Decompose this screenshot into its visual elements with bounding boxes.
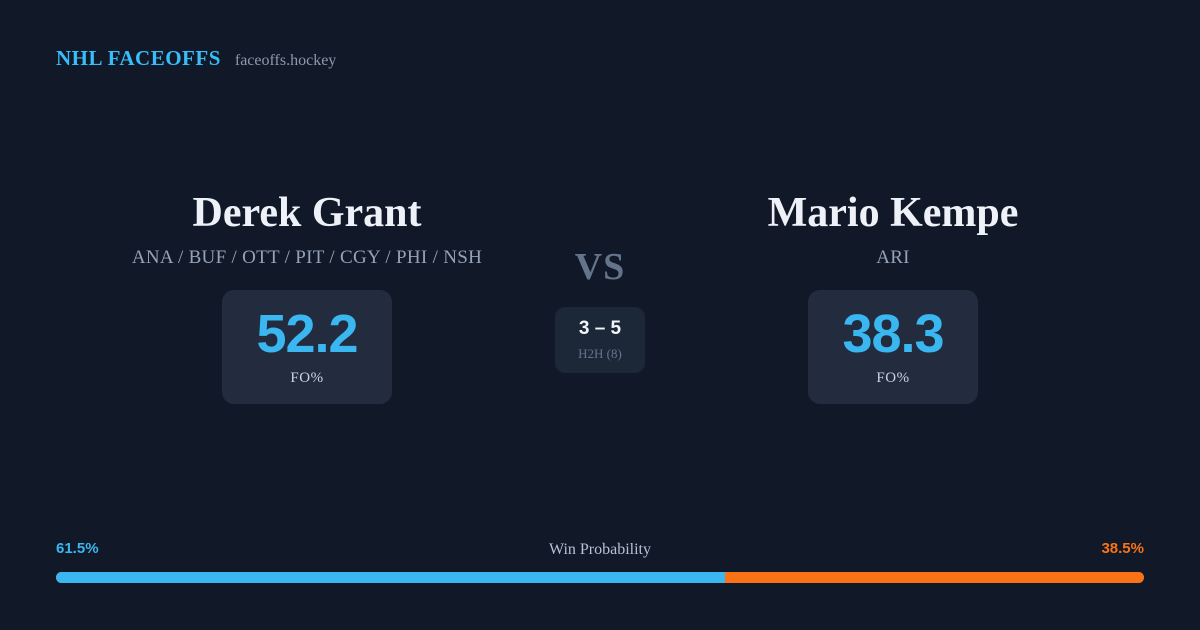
matchup-section: Derek Grant ANA / BUF / OTT / PIT / CGY … [0, 190, 1200, 404]
player-left-teams: ANA / BUF / OTT / PIT / CGY / PHI / NSH [132, 247, 482, 269]
versus-label: VS [575, 248, 626, 286]
player-left-faceoff-pct: 52.2 [256, 307, 357, 361]
head-to-head-box: 3 – 5 H2H (8) [555, 307, 645, 373]
win-probability-bar [56, 572, 1144, 583]
site-header: NHL FACEOFFS faceoffs.hockey [56, 46, 336, 71]
win-probability-bar-right [725, 572, 1144, 583]
player-right-stat-label: FO% [876, 370, 909, 387]
player-left-stat-card: 52.2 FO% [222, 290, 392, 404]
player-left-name: Derek Grant [192, 190, 421, 237]
player-left: Derek Grant ANA / BUF / OTT / PIT / CGY … [74, 190, 540, 404]
player-right-stat-card: 38.3 FO% [808, 290, 978, 404]
player-right-faceoff-pct: 38.3 [842, 307, 943, 361]
versus-column: VS 3 – 5 H2H (8) [540, 190, 660, 373]
win-probability-title: Win Probability [56, 541, 1144, 559]
player-right: Mario Kempe ARI 38.3 FO% [660, 190, 1126, 404]
head-to-head-score: 3 – 5 [579, 319, 621, 338]
win-probability-right-value: 38.5% [1101, 540, 1144, 557]
player-right-name: Mario Kempe [768, 190, 1019, 237]
head-to-head-label: H2H (8) [578, 346, 622, 362]
brand-title: NHL FACEOFFS [56, 46, 221, 71]
player-right-teams: ARI [876, 247, 910, 269]
win-probability-bar-left [56, 572, 725, 583]
win-probability-labels: 61.5% Win Probability 38.5% [56, 540, 1144, 562]
win-probability-section: 61.5% Win Probability 38.5% [56, 540, 1144, 583]
site-domain: faceoffs.hockey [235, 52, 336, 70]
player-left-stat-label: FO% [290, 370, 323, 387]
